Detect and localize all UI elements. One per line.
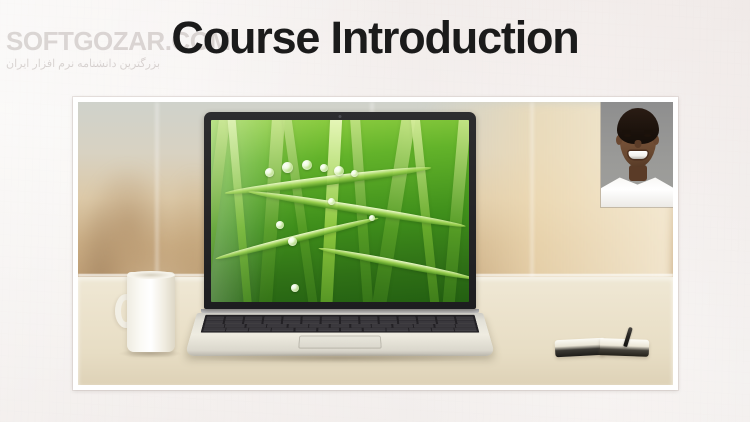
key-row xyxy=(204,324,475,327)
key xyxy=(205,320,223,323)
key xyxy=(203,328,225,331)
dew-drop xyxy=(276,221,284,229)
key xyxy=(436,316,454,319)
key xyxy=(379,320,397,323)
key xyxy=(409,328,431,331)
key xyxy=(372,324,392,327)
grass-blade xyxy=(257,120,286,302)
key xyxy=(283,320,301,323)
desk-scene-photo xyxy=(78,102,673,385)
notebook-left-page xyxy=(555,337,605,357)
mug-body xyxy=(127,272,175,352)
key xyxy=(437,320,455,323)
presentation-slide: SOFTGOZAR.COM بزرگترین دانشنامه نرم افزا… xyxy=(0,0,750,422)
key xyxy=(330,324,349,327)
slide-title: Course Introduction xyxy=(0,14,750,61)
presenter-eyebrow xyxy=(644,130,653,133)
key xyxy=(245,316,263,319)
key xyxy=(386,328,408,331)
key xyxy=(288,324,308,327)
grass-wallpaper xyxy=(211,120,469,302)
key xyxy=(398,320,416,323)
key xyxy=(456,320,474,323)
laptop-trackpad xyxy=(298,335,382,348)
grass-blade xyxy=(279,120,323,302)
laptop-lid xyxy=(204,112,476,309)
key-row xyxy=(203,328,476,331)
grass-blade xyxy=(319,120,344,302)
key xyxy=(302,316,320,319)
dew-drop xyxy=(351,170,358,177)
presenter-nose xyxy=(634,140,641,148)
key xyxy=(226,328,248,331)
dew-drop xyxy=(288,237,297,246)
dew-drop xyxy=(291,284,299,292)
key xyxy=(455,316,473,319)
laptop-shadow xyxy=(190,353,490,363)
key xyxy=(341,316,359,319)
key-row xyxy=(206,316,473,319)
key xyxy=(414,324,434,327)
photo-frame xyxy=(73,97,678,390)
key xyxy=(204,324,224,327)
key xyxy=(360,316,378,319)
key xyxy=(224,320,242,323)
key xyxy=(455,328,477,331)
key xyxy=(398,316,416,319)
key xyxy=(225,324,245,327)
dew-drop xyxy=(369,215,375,221)
key xyxy=(417,316,435,319)
key xyxy=(244,320,262,323)
key xyxy=(379,316,397,319)
mug-rim xyxy=(127,271,175,279)
notebook xyxy=(555,330,649,360)
key xyxy=(455,324,475,327)
key xyxy=(283,316,301,319)
presenter-eye xyxy=(624,134,631,137)
key xyxy=(363,328,385,331)
key xyxy=(267,324,287,327)
key xyxy=(418,320,436,323)
key xyxy=(302,320,320,323)
key xyxy=(318,328,339,331)
coffee-mug xyxy=(117,272,175,354)
presenter-eye xyxy=(644,134,651,137)
presenter-eyebrow xyxy=(622,130,631,133)
key xyxy=(432,328,454,331)
key xyxy=(435,324,455,327)
key xyxy=(321,320,339,323)
key xyxy=(246,324,266,327)
key xyxy=(225,316,243,319)
key xyxy=(206,316,224,319)
laptop-base xyxy=(184,313,495,356)
webcam-icon xyxy=(338,115,341,118)
dew-drop xyxy=(302,160,312,170)
presenter-hair xyxy=(617,108,659,144)
presenter-smile xyxy=(628,151,647,159)
key xyxy=(321,316,339,319)
key xyxy=(295,328,317,331)
grass-blade xyxy=(225,120,254,302)
key xyxy=(249,328,271,331)
presenter-headshot xyxy=(601,102,673,207)
dew-drop xyxy=(265,168,274,177)
laptop xyxy=(197,112,483,357)
key xyxy=(263,320,281,323)
key xyxy=(341,320,359,323)
laptop-keyboard xyxy=(200,315,479,333)
key xyxy=(393,324,413,327)
key xyxy=(360,320,378,323)
key xyxy=(309,324,329,327)
key xyxy=(351,324,371,327)
dew-drop xyxy=(320,164,328,172)
key xyxy=(264,316,282,319)
key xyxy=(272,328,294,331)
key-row xyxy=(205,320,474,323)
presenter-neck xyxy=(629,165,647,181)
laptop-screen xyxy=(211,120,469,302)
key xyxy=(341,328,362,331)
